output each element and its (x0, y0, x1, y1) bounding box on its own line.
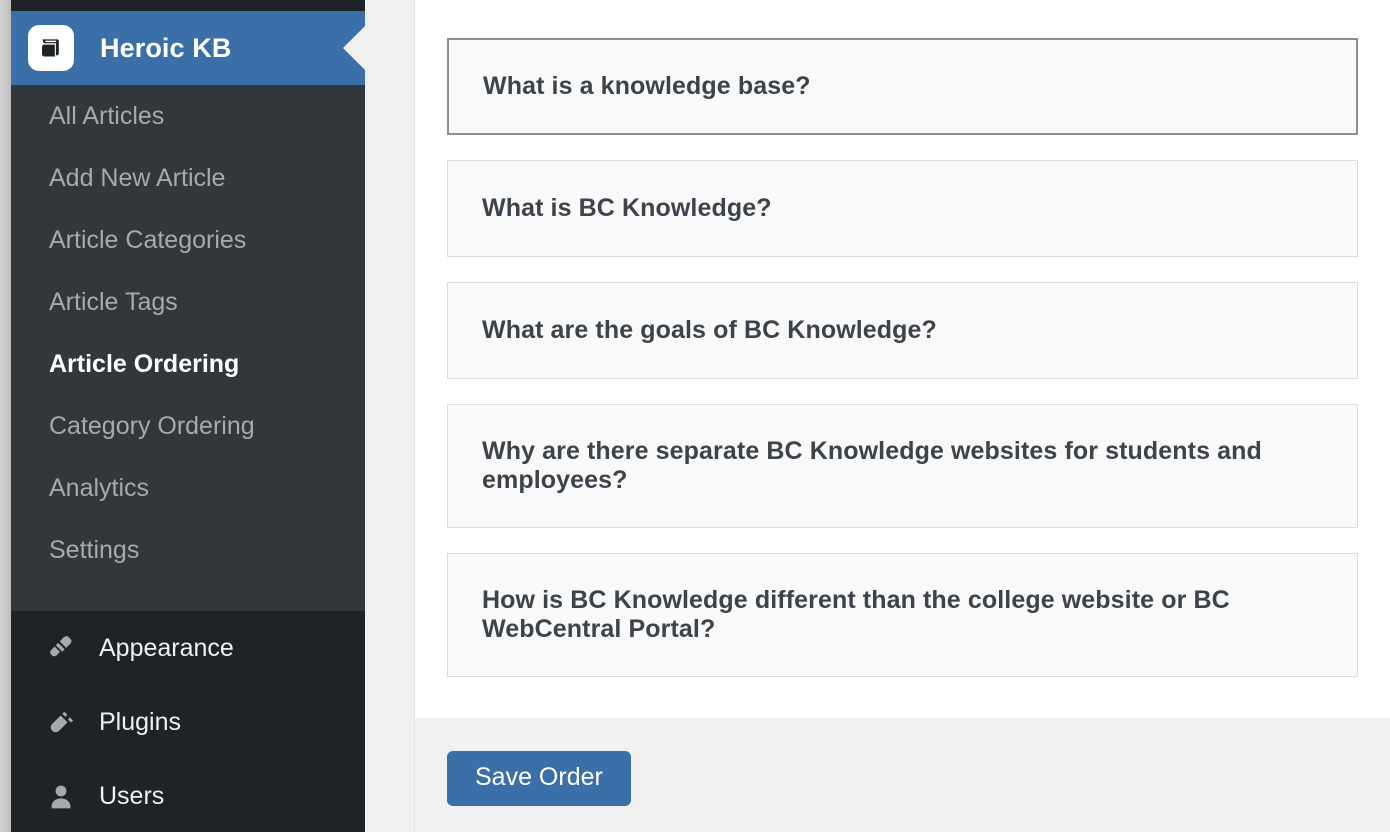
save-order-button[interactable]: Save Order (447, 751, 631, 806)
sidebar-item-article-categories[interactable]: Article Categories (11, 209, 365, 271)
user-icon (44, 779, 82, 813)
sidebar-item-label: Plugins (99, 708, 181, 737)
book-icon (28, 25, 74, 71)
sidebar-item-add-new-article[interactable]: Add New Article (11, 147, 365, 209)
brand-arrow-notch-icon (343, 26, 365, 70)
paintbrush-icon (44, 631, 82, 665)
article-order-card[interactable]: What is a knowledge base? (447, 38, 1358, 135)
sidebar-item-category-ordering[interactable]: Category Ordering (11, 395, 365, 457)
sidebar-item-users[interactable]: Users (11, 759, 365, 833)
article-order-card[interactable]: What are the goals of BC Knowledge? (447, 282, 1358, 379)
admin-sidebar: Heroic KB All Articles Add New Article A… (11, 11, 365, 832)
sidebar-item-article-tags[interactable]: Article Tags (11, 271, 365, 333)
admin-bar (11, 0, 365, 11)
sidebar-item-label: Appearance (99, 634, 234, 663)
article-title: Why are there separate BC Knowledge webs… (482, 437, 1325, 495)
article-title: What is a knowledge base? (483, 72, 811, 101)
sidebar-submenu: All Articles Add New Article Article Cat… (11, 85, 365, 581)
sidebar-brand-heroic-kb[interactable]: Heroic KB (11, 11, 365, 85)
main-content: What is a knowledge base? What is BC Kno… (415, 0, 1390, 832)
wordpress-admin-screen: Heroic KB All Articles Add New Article A… (0, 0, 1390, 832)
brand-title: Heroic KB (100, 33, 231, 64)
save-bar: Save Order (415, 718, 1390, 832)
article-order-card[interactable]: Why are there separate BC Knowledge webs… (447, 404, 1358, 528)
sidebar-item-analytics[interactable]: Analytics (11, 457, 365, 519)
article-title: What are the goals of BC Knowledge? (482, 316, 937, 345)
sidebar-item-appearance[interactable]: Appearance (11, 611, 365, 685)
sidebar-item-article-ordering[interactable]: Article Ordering (11, 333, 365, 395)
article-title: How is BC Knowledge different than the c… (482, 586, 1325, 644)
article-order-card[interactable]: How is BC Knowledge different than the c… (447, 553, 1358, 677)
sidebar-bottom-menu: Appearance Plugins (11, 611, 365, 833)
sidebar-item-label: Users (99, 782, 164, 811)
article-title: What is BC Knowledge? (482, 194, 772, 223)
page-scroll-gutter[interactable] (0, 0, 11, 832)
content-gutter (365, 0, 415, 832)
sidebar-item-plugins[interactable]: Plugins (11, 685, 365, 759)
plug-icon (44, 705, 82, 739)
sidebar-item-settings[interactable]: Settings (11, 519, 365, 581)
article-order-card[interactable]: What is BC Knowledge? (447, 160, 1358, 257)
article-ordering-list: What is a knowledge base? What is BC Kno… (447, 38, 1358, 702)
sidebar-item-all-articles[interactable]: All Articles (11, 85, 365, 147)
